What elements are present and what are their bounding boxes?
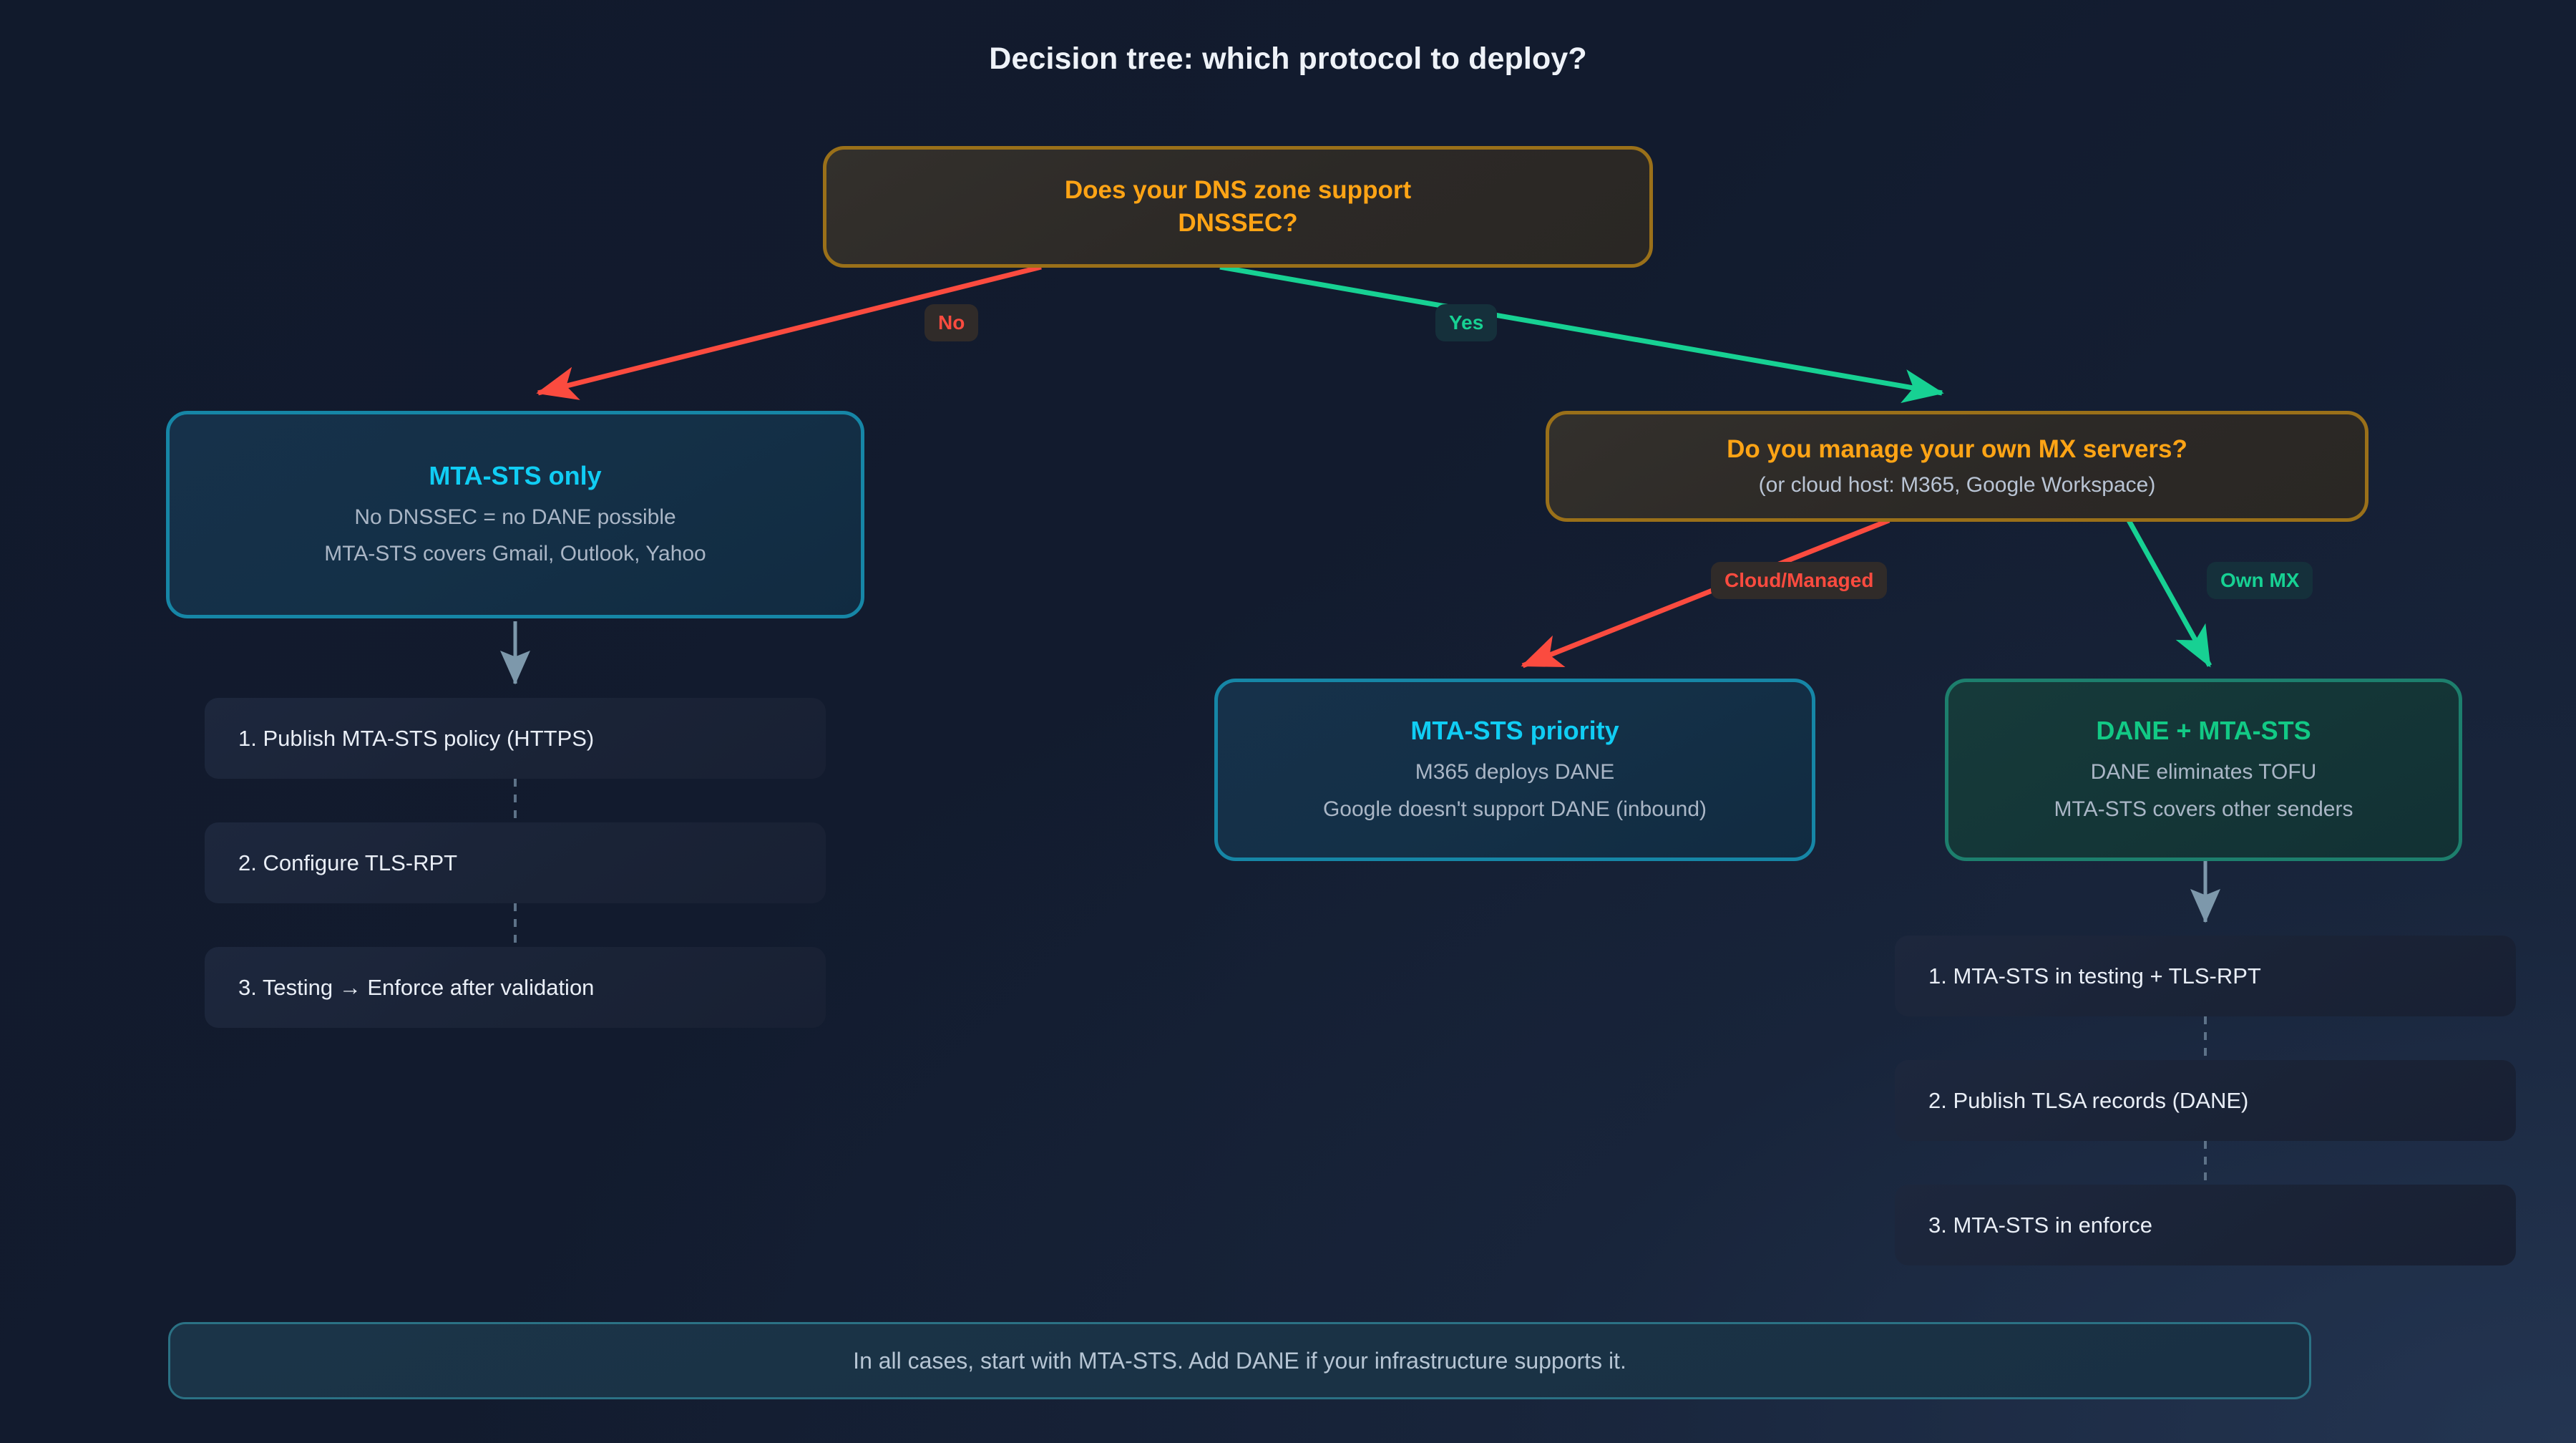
step-label: 3. MTA-STS in enforce [1928,1213,2152,1238]
node-dnssec-question-line1: Does your DNS zone support [1065,174,1411,207]
step-label: 3. Testing → Enforce after validation [238,975,594,1001]
page-title: Decision tree: which protocol to deploy? [0,42,2576,77]
step-label: 2. Configure TLS-RPT [238,850,457,876]
node-dane-plus-mta-sts[interactable]: DANE + MTA-STS DANE eliminates TOFU MTA-… [1945,679,2462,861]
node-dane-plus-mta-sts-line1: DANE eliminates TOFU [2054,757,2353,787]
list-item[interactable]: 3. MTA-STS in enforce [1895,1185,2516,1265]
step-label: 1. MTA-STS in testing + TLS-RPT [1928,963,2261,989]
node-dnssec-question[interactable]: Does your DNS zone support DNSSEC? [823,146,1653,268]
summary-banner: In all cases, start with MTA-STS. Add DA… [168,1322,2311,1399]
node-mta-sts-only-heading: MTA-STS only [429,461,601,491]
list-item[interactable]: 2. Publish TLSA records (DANE) [1895,1060,2516,1141]
node-mta-sts-priority[interactable]: MTA-STS priority M365 deploys DANE Googl… [1214,679,1815,861]
edge-mx-to-dane [2129,520,2210,666]
node-mta-sts-only[interactable]: MTA-STS only No DNSSEC = no DANE possibl… [166,411,864,618]
edge-label-own-mx: Own MX [2207,562,2313,599]
edge-label-cloud-managed-text: Cloud/Managed [1724,569,1873,592]
edge-label-no: No [924,304,978,341]
edge-label-yes: Yes [1435,304,1497,341]
node-mx-question-heading: Do you manage your own MX servers? [1727,433,2187,466]
list-item[interactable]: 3. Testing → Enforce after validation [205,947,826,1028]
edge-root-to-mx-question [1220,267,1942,393]
node-mta-sts-priority-line2: Google doesn't support DANE (inbound) [1323,795,1707,824]
node-mta-sts-only-line1: No DNSSEC = no DANE possible [324,502,706,532]
node-dane-plus-mta-sts-heading: DANE + MTA-STS [2096,716,2311,746]
node-mta-sts-priority-heading: MTA-STS priority [1410,716,1619,746]
node-mx-question-sub: (or cloud host: M365, Google Workspace) [1759,471,2156,500]
edge-label-own-mx-text: Own MX [2220,569,2299,592]
edge-label-yes-text: Yes [1449,311,1483,334]
list-item[interactable]: 1. MTA-STS in testing + TLS-RPT [1895,936,2516,1016]
list-item[interactable]: 2. Configure TLS-RPT [205,822,826,903]
summary-banner-text: In all cases, start with MTA-STS. Add DA… [853,1348,1626,1374]
node-mta-sts-priority-line1: M365 deploys DANE [1323,757,1707,787]
edge-label-cloud-managed: Cloud/Managed [1711,562,1887,599]
node-dnssec-question-line2: DNSSEC? [1178,207,1297,240]
step-label: 1. Publish MTA-STS policy (HTTPS) [238,726,594,752]
node-dane-plus-mta-sts-line2: MTA-STS covers other senders [2054,795,2353,824]
node-mta-sts-only-line2: MTA-STS covers Gmail, Outlook, Yahoo [324,539,706,568]
diagram-canvas: Decision tree: which protocol to deploy?… [0,0,2576,1443]
edge-label-no-text: No [938,311,965,334]
step-label: 2. Publish TLSA records (DANE) [1928,1088,2248,1114]
list-item[interactable]: 1. Publish MTA-STS policy (HTTPS) [205,698,826,779]
node-mx-question[interactable]: Do you manage your own MX servers? (or c… [1546,411,2368,522]
